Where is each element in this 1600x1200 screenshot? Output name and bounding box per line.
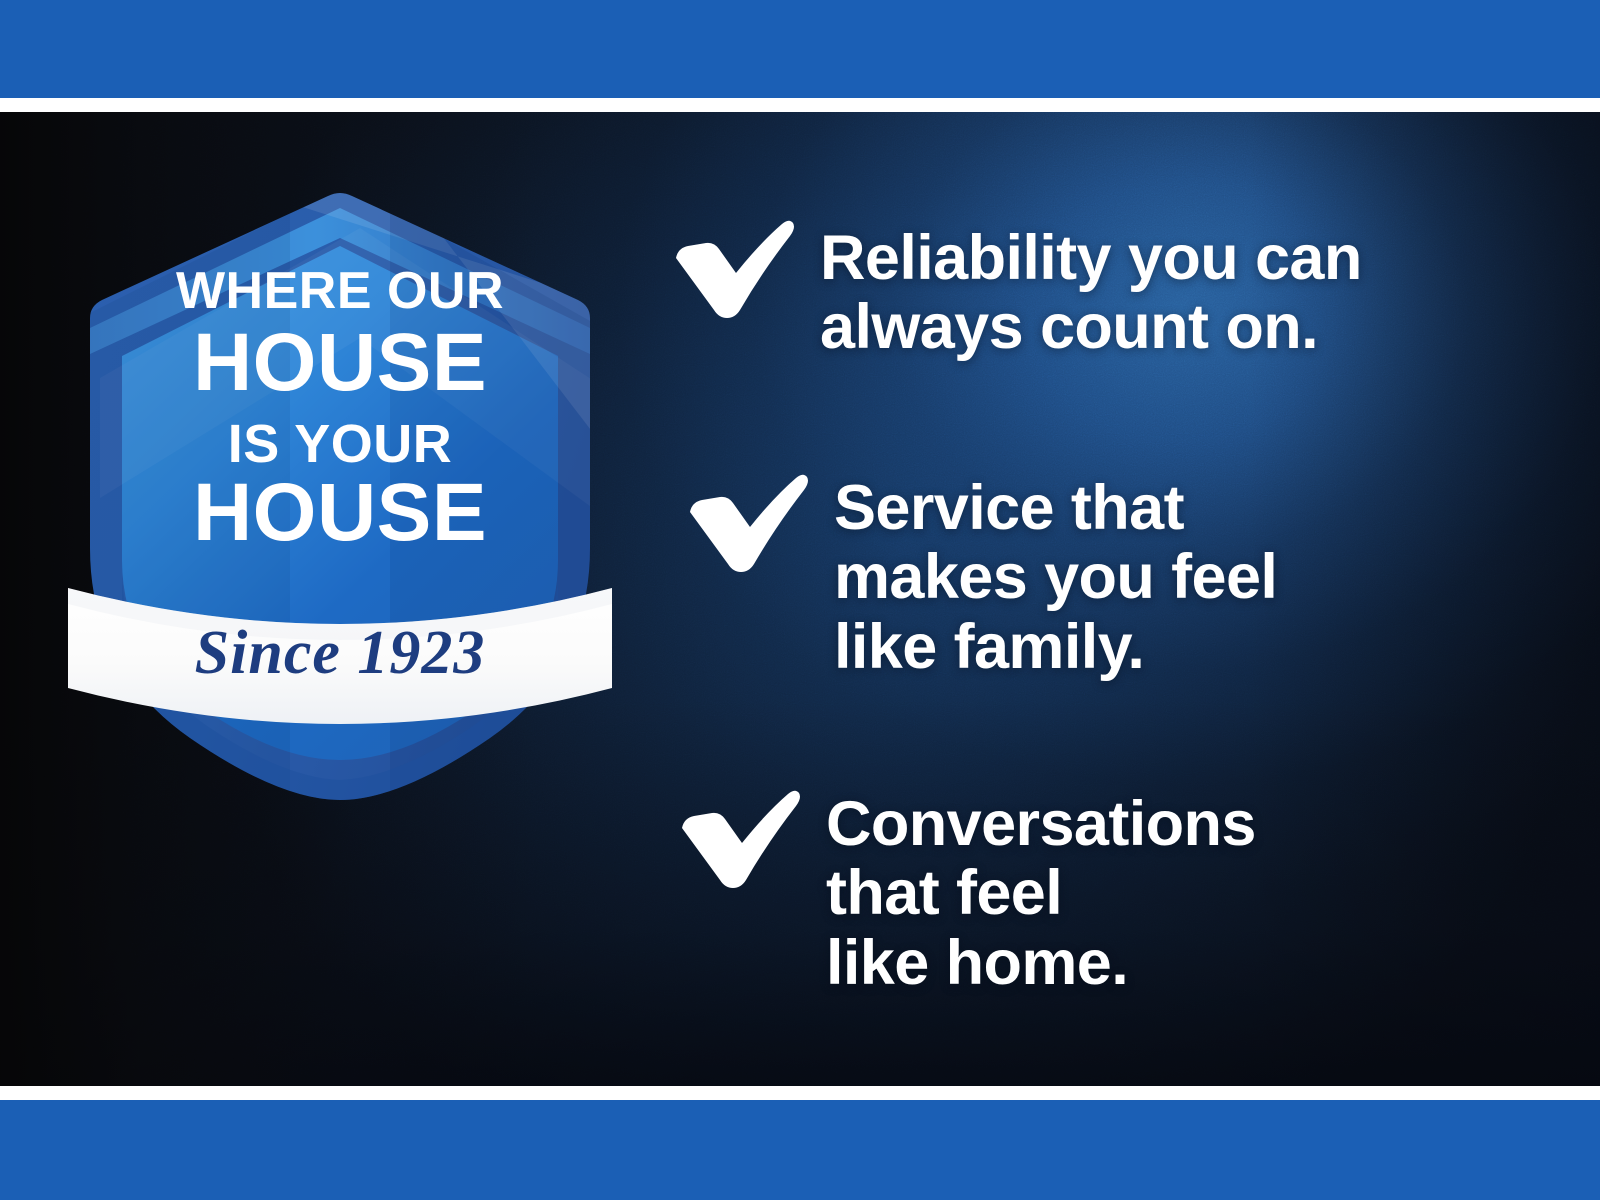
list-item-label: Reliability you can always count on. [820, 210, 1362, 363]
shield-line-1: HOUSE [193, 317, 487, 408]
top-brand-bar [0, 0, 1600, 98]
list-item-label: Service that makes you feel like family. [834, 464, 1277, 682]
top-separator-line [0, 98, 1600, 112]
list-item-label: Conversations that feel like home. [826, 780, 1256, 998]
bottom-separator-line [0, 1086, 1600, 1100]
promo-graphic: WHERE OUR HOUSE IS YOUR HOUSE Since 1923… [0, 0, 1600, 1200]
benefits-list: Reliability you can always count on. Ser… [668, 112, 1568, 1088]
ribbon-text: Since 1923 [195, 619, 486, 687]
list-item: Reliability you can always count on. [668, 210, 1362, 363]
list-item: Service that makes you feel like family. [682, 464, 1277, 682]
check-icon [674, 780, 802, 890]
list-item: Conversations that feel like home. [674, 780, 1256, 998]
house-shield-badge: WHERE OUR HOUSE IS YOUR HOUSE Since 1923 [60, 168, 620, 808]
bottom-brand-bar [0, 1100, 1600, 1200]
shield-line-0: WHERE OUR [176, 262, 504, 320]
shield-line-2: IS YOUR [228, 414, 453, 474]
check-icon [682, 464, 810, 574]
check-icon [668, 210, 796, 320]
shield-line-3: HOUSE [193, 467, 487, 558]
